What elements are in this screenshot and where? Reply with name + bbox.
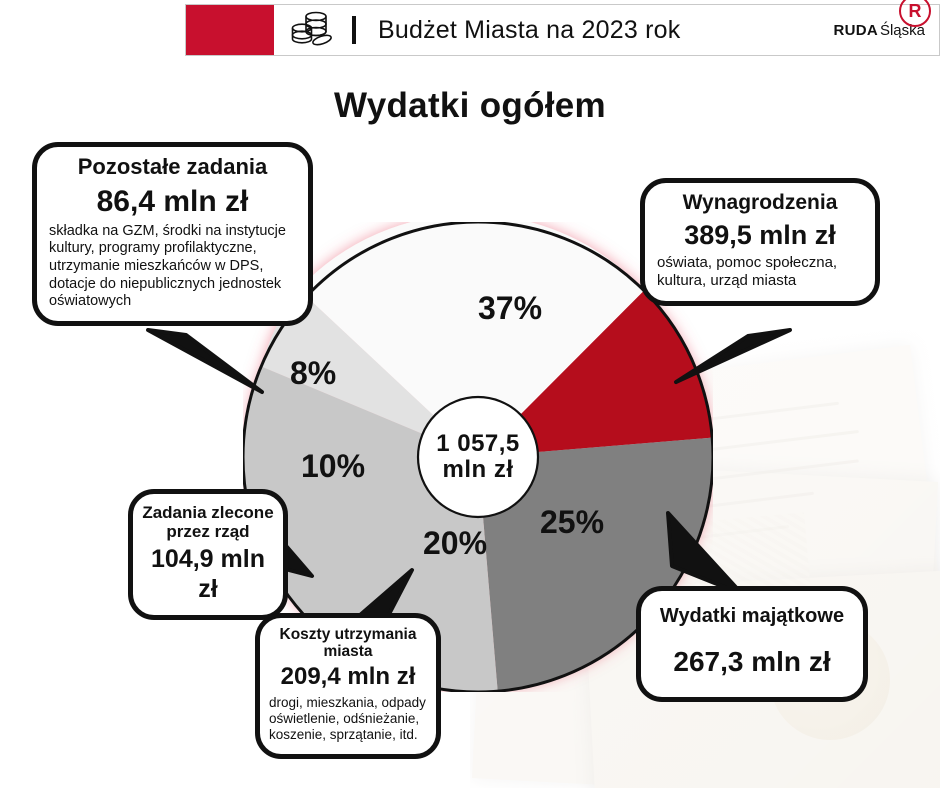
callout-description: oświata, pomoc społeczna, kultura, urząd… <box>657 254 863 291</box>
emblem-letter: R <box>909 2 922 20</box>
coins-stack-icon <box>274 10 352 50</box>
pie-label-8: 8% <box>290 355 336 392</box>
callout-title: Wynagrodzenia <box>657 191 863 215</box>
header-red-block <box>186 5 274 55</box>
callout-amount: 267,3 mln zł <box>653 645 851 679</box>
pie-label-25: 25% <box>540 504 604 541</box>
header-title: Budżet Miasta na 2023 rok <box>378 16 680 45</box>
ruda-slaska-logo: RUDA Śląska R <box>833 22 925 39</box>
callout-description: drogi, mieszkania, odpady oświetlenie, o… <box>269 695 427 744</box>
callout-pozostale-zadania: Pozostałe zadania 86,4 mln zł składka na… <box>32 142 313 326</box>
logo-ruda-text: RUDA <box>833 22 878 39</box>
callout-title: Koszty utrzymania miasta <box>269 626 427 661</box>
callout-amount: 104,9 mln zł <box>141 544 275 604</box>
callout-amount: 86,4 mln zł <box>49 184 296 220</box>
infographic-root: Budżet Miasta na 2023 rok RUDA Śląska R … <box>0 0 940 788</box>
ruda-emblem-icon: R <box>899 0 931 27</box>
callout-title: Zadania zlecone przez rząd <box>141 503 275 541</box>
header-divider-icon <box>352 16 356 44</box>
pie-label-20: 20% <box>423 525 487 562</box>
page-title: Wydatki ogółem <box>0 86 940 126</box>
callout-title: Wydatki majątkowe <box>653 605 851 627</box>
callout-wynagrodzenia: Wynagrodzenia 389,5 mln zł oświata, pomo… <box>640 178 880 306</box>
callout-amount: 209,4 mln zł <box>269 663 427 692</box>
header-bar: Budżet Miasta na 2023 rok RUDA Śląska R <box>185 4 940 56</box>
callout-description: składka na GZM, środki na instytucje kul… <box>49 223 296 311</box>
pie-label-10: 10% <box>301 448 365 485</box>
pie-center-hole <box>418 397 538 517</box>
callout-title: Pozostałe zadania <box>49 155 296 180</box>
pie-label-37: 37% <box>478 290 542 327</box>
callout-zadania-zlecone: Zadania zlecone przez rząd 104,9 mln zł <box>128 489 288 620</box>
callout-amount: 389,5 mln zł <box>657 219 863 251</box>
callout-wydatki-majatkowe: Wydatki majątkowe 267,3 mln zł <box>636 586 868 702</box>
callout-koszty-utrzymania: Koszty utrzymania miasta 209,4 mln zł dr… <box>255 613 441 759</box>
